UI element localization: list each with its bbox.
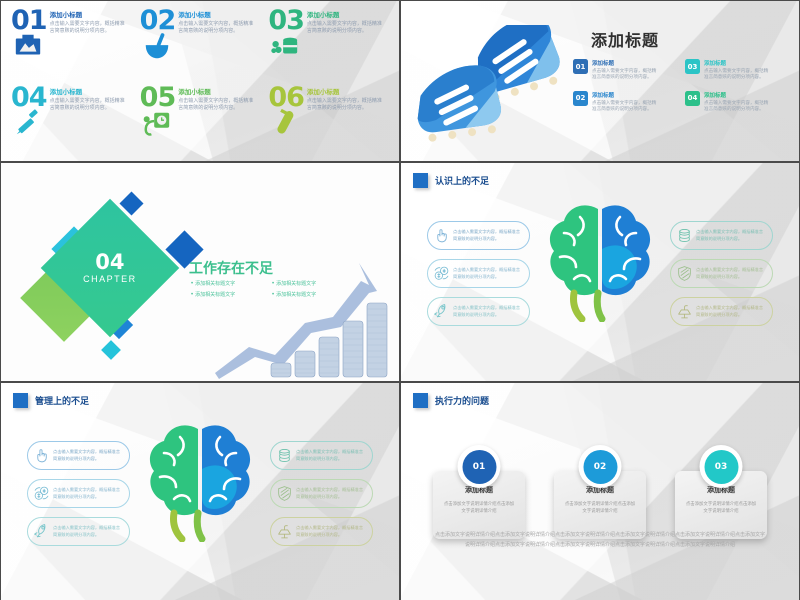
item-body: 点击输入需要文字内容，概括精准言简意赅的说明分项内容。 xyxy=(704,68,770,81)
six-item[interactable]: 05添加小标题点击输入需要文字内容，概括精准言简意赅的说明分项内容。 xyxy=(136,82,265,159)
coins-icon xyxy=(676,227,693,244)
card-body: 点击添加文字说明详情介绍点击添加文字说明详情介绍 xyxy=(563,500,637,514)
info-pill[interactable]: 点击输入需要文字内容，概括精准言简意赅的说明分项内容。 xyxy=(670,259,773,288)
rocket-icon xyxy=(33,523,50,540)
pill-text: 点击输入需要文字内容，概括精准言简意赅的说明分项内容。 xyxy=(296,449,367,461)
execution-card[interactable]: 03添加标题点击添加文字说明详情介绍点击添加文字说明详情介绍 xyxy=(675,445,767,539)
coins-icon xyxy=(276,447,293,464)
six-item[interactable]: 01添加小标题点击输入需要文字内容，概括精准言简意赅的说明分项内容。 xyxy=(7,5,136,82)
shield-icon xyxy=(676,265,693,282)
card-number-circle: 03 xyxy=(700,445,743,488)
xray-icon xyxy=(13,31,43,61)
slide-3-chapter[interactable]: 04 CHAPTER 工作存在不足 •添加相关标题文字•添加相关标题文字•添加相… xyxy=(1,163,399,381)
bullet-dot-icon: • xyxy=(191,292,193,298)
card-number: 03 xyxy=(704,450,738,484)
brain-icon xyxy=(540,197,660,322)
test-tube-icon xyxy=(270,108,300,138)
info-pill[interactable]: 点击输入需要文字内容，概括精准言简意赅的说明分项内容。 xyxy=(270,479,373,508)
item-badge: 03 xyxy=(685,59,700,74)
rocket-icon xyxy=(33,523,50,540)
item-body: 点击输入需要文字内容，概括精准言简意赅的说明分项内容。 xyxy=(50,21,128,36)
mortar-pestle-icon xyxy=(142,31,172,61)
brain-illustration xyxy=(540,197,660,322)
slide-2-item[interactable]: 02添加标题点击输入需要文字内容，概括精准言简意赅的说明分项内容。 xyxy=(573,91,679,113)
info-pill[interactable]: 点击输入需要文字内容，概括精准言简意赅的说明分项内容。 xyxy=(427,221,530,250)
section-header-label: 认识上的不足 xyxy=(435,174,489,187)
lamp-icon xyxy=(276,523,293,540)
item-body: 点击输入需要文字内容，概括精准言简意赅的说明分项内容。 xyxy=(50,98,128,113)
currency-exchange-icon xyxy=(33,485,50,502)
section-header: 认识上的不足 xyxy=(413,173,489,188)
item-title: 添加标题 xyxy=(704,59,770,67)
pill-text: 点击输入需要文字内容，概括精准言简意赅的说明分项内容。 xyxy=(296,525,367,537)
football-boots-icon xyxy=(407,25,592,145)
lamp-icon xyxy=(676,303,693,320)
item-title: 添加小标题 xyxy=(50,86,128,96)
card-body: 点击添加文字说明详情介绍点击添加文字说明详情介绍 xyxy=(684,500,758,514)
item-body: 点击输入需要文字内容，概括精准言简意赅的说明分项内容。 xyxy=(592,100,658,113)
section-header-label: 管理上的不足 xyxy=(35,394,89,407)
item-body: 点击输入需要文字内容，概括精准言简意赅的说明分项内容。 xyxy=(307,21,385,36)
info-pill[interactable]: 点击输入需要文字内容，概括精准言简意赅的说明分项内容。 xyxy=(270,517,373,546)
slide-2-item[interactable]: 04添加标题点击输入需要文字内容，概括精准言简意赅的说明分项内容。 xyxy=(685,91,791,113)
currency-exchange-icon xyxy=(433,265,450,282)
slide-2-title: 添加标题 xyxy=(591,27,659,51)
pill-text: 点击输入需要文字内容，概括精准言简意赅的说明分项内容。 xyxy=(453,267,524,279)
slide-6-footer-text: 点击添加文字说明详情介绍点击添加文字说明详情介绍点击添加文字说明详情介绍点击添加… xyxy=(435,531,765,550)
item-title: 添加小标题 xyxy=(178,9,256,19)
item-body: 点击输入需要文字内容，概括精准言简意赅的说明分项内容。 xyxy=(592,68,658,81)
item-body: 点击输入需要文字内容，概括精准言简意赅的说明分项内容。 xyxy=(178,21,256,36)
currency-exchange-icon xyxy=(433,265,450,282)
pill-jar-icon xyxy=(270,31,300,61)
brain-icon xyxy=(140,417,260,542)
item-title: 添加小标题 xyxy=(307,86,385,96)
slide-1-six-items[interactable]: 01添加小标题点击输入需要文字内容，概括精准言简意赅的说明分项内容。02添加小标… xyxy=(1,1,399,161)
pill-text: 点击输入需要文字内容，概括精准言简意赅的说明分项内容。 xyxy=(696,229,767,241)
coins-icon xyxy=(676,227,693,244)
info-pill[interactable]: 点击输入需要文字内容，概括精准言简意赅的说明分项内容。 xyxy=(270,441,373,470)
execution-card[interactable]: 02添加标题点击添加文字说明详情介绍点击添加文字说明详情介绍 xyxy=(554,445,646,539)
pill-text: 点击输入需要文字内容，概括精准言简意赅的说明分项内容。 xyxy=(53,487,124,499)
chapter-label: CHAPTER xyxy=(83,274,137,284)
lamp-icon xyxy=(676,303,693,320)
hand-click-icon xyxy=(433,227,450,244)
xray-icon xyxy=(13,31,43,61)
card-number: 01 xyxy=(462,450,496,484)
square-bullet-icon xyxy=(413,173,428,188)
info-pill[interactable]: 点击输入需要文字内容，概括精准言简意赅的说明分项内容。 xyxy=(27,441,130,470)
info-pill[interactable]: 点击输入需要文字内容，概括精准言简意赅的说明分项内容。 xyxy=(427,259,530,288)
blood-pressure-icon xyxy=(142,108,172,138)
six-item[interactable]: 06添加小标题点击输入需要文字内容，概括精准言简意赅的说明分项内容。 xyxy=(264,82,393,159)
six-item[interactable]: 03添加小标题点击输入需要文字内容，概括精准言简意赅的说明分项内容。 xyxy=(264,5,393,82)
pill-text: 点击输入需要文字内容，概括精准言简意赅的说明分项内容。 xyxy=(296,487,367,499)
slide-5-brain-management[interactable]: 管理上的不足 点击输入需要文字内容，概括精准言简意赅 xyxy=(1,383,399,600)
slide-2-item[interactable]: 01添加标题点击输入需要文字内容，概括精准言简意赅的说明分项内容。 xyxy=(573,59,679,81)
bullet-dot-icon: • xyxy=(191,281,193,287)
item-badge: 02 xyxy=(573,91,588,106)
shield-icon xyxy=(676,265,693,282)
currency-exchange-icon xyxy=(33,485,50,502)
info-pill[interactable]: 点击输入需要文字内容，概括精准言简意赅的说明分项内容。 xyxy=(27,517,130,546)
hand-click-icon xyxy=(33,447,50,464)
shield-icon xyxy=(276,485,293,502)
six-item-grid: 01添加小标题点击输入需要文字内容，概括精准言简意赅的说明分项内容。02添加小标… xyxy=(1,1,399,161)
item-title: 添加小标题 xyxy=(50,9,128,19)
card-body: 点击添加文字说明详情介绍点击添加文字说明详情介绍 xyxy=(442,500,516,514)
mortar-pestle-icon xyxy=(142,31,172,61)
pill-jar-icon xyxy=(270,31,300,61)
growth-arrow-coins-icon xyxy=(209,251,399,381)
pill-text: 点击输入需要文字内容，概括精准言简意赅的说明分项内容。 xyxy=(53,449,124,461)
execution-card[interactable]: 01添加标题点击添加文字说明详情介绍点击添加文字说明详情介绍 xyxy=(433,445,525,539)
card-number-circle: 01 xyxy=(458,445,501,488)
blood-pressure-icon xyxy=(142,108,172,138)
pill-text: 点击输入需要文字内容，概括精准言简意赅的说明分项内容。 xyxy=(696,305,767,317)
slide-2-item-grid: 01添加标题点击输入需要文字内容，概括精准言简意赅的说明分项内容。03添加标题点… xyxy=(573,59,791,113)
diamond-cyan-bottom xyxy=(101,340,121,360)
lamp-icon xyxy=(276,523,293,540)
six-item[interactable]: 04添加小标题点击输入需要文字内容，概括精准言简意赅的说明分项内容。 xyxy=(7,82,136,159)
pill-text: 点击输入需要文字内容，概括精准言简意赅的说明分项内容。 xyxy=(453,305,524,317)
item-title: 添加标题 xyxy=(704,91,770,99)
square-bullet-icon xyxy=(413,393,428,408)
rocket-icon xyxy=(433,303,450,320)
hand-click-icon xyxy=(433,227,450,244)
item-title: 添加标题 xyxy=(592,91,658,99)
item-body: 点击输入需要文字内容，概括精准言简意赅的说明分项内容。 xyxy=(307,98,385,113)
chapter-number: 04 xyxy=(83,252,137,273)
syringe-icon xyxy=(13,108,43,138)
info-pill[interactable]: 点击输入需要文字内容，概括精准言简意赅的说明分项内容。 xyxy=(670,297,773,326)
info-pill[interactable]: 点击输入需要文字内容，概括精准言简意赅的说明分项内容。 xyxy=(27,479,130,508)
slide-2-boots[interactable]: 添加标题 01添加标题点击输入需要文字内容，概括精准言简意赅的说明分项内容。03… xyxy=(401,1,799,161)
item-badge: 04 xyxy=(685,91,700,106)
slide-2-item[interactable]: 03添加标题点击输入需要文字内容，概括精准言简意赅的说明分项内容。 xyxy=(685,59,791,81)
syringe-icon xyxy=(13,108,43,138)
card-number-circle: 02 xyxy=(579,445,622,488)
info-pill[interactable]: 点击输入需要文字内容，概括精准言简意赅的说明分项内容。 xyxy=(670,221,773,250)
slide-6-execution[interactable]: 执行力的问题 01添加标题点击添加文字说明详情介绍点击添加文字说明详情介绍02添… xyxy=(401,383,799,600)
shield-icon xyxy=(276,485,293,502)
brain-illustration xyxy=(140,417,260,542)
six-item[interactable]: 02添加小标题点击输入需要文字内容，概括精准言简意赅的说明分项内容。 xyxy=(136,5,265,82)
coins-icon xyxy=(276,447,293,464)
pill-text: 点击输入需要文字内容，概括精准言简意赅的说明分项内容。 xyxy=(453,229,524,241)
section-header-label: 执行力的问题 xyxy=(435,394,489,407)
item-body: 点击输入需要文字内容，概括精准言简意赅的说明分项内容。 xyxy=(178,98,256,113)
test-tube-icon xyxy=(270,108,300,138)
slide-4-brain-cognition[interactable]: 认识上的不足 点击输入需要文字内容，概括精准言简意赅 xyxy=(401,163,799,381)
rocket-icon xyxy=(433,303,450,320)
item-title: 添加小标题 xyxy=(307,9,385,19)
slide-deck: 01添加小标题点击输入需要文字内容，概括精准言简意赅的说明分项内容。02添加小标… xyxy=(0,0,800,600)
item-title: 添加小标题 xyxy=(178,86,256,96)
hand-click-icon xyxy=(33,447,50,464)
info-pill[interactable]: 点击输入需要文字内容，概括精准言简意赅的说明分项内容。 xyxy=(427,297,530,326)
card-number: 02 xyxy=(583,450,617,484)
item-badge: 01 xyxy=(573,59,588,74)
item-title: 添加标题 xyxy=(592,59,658,67)
item-body: 点击输入需要文字内容，概括精准言简意赅的说明分项内容。 xyxy=(704,100,770,113)
section-header: 管理上的不足 xyxy=(13,393,89,408)
square-bullet-icon xyxy=(13,393,28,408)
pill-text: 点击输入需要文字内容，概括精准言简意赅的说明分项内容。 xyxy=(53,525,124,537)
pill-text: 点击输入需要文字内容，概括精准言简意赅的说明分项内容。 xyxy=(696,267,767,279)
card-row: 01添加标题点击添加文字说明详情介绍点击添加文字说明详情介绍02添加标题点击添加… xyxy=(401,445,799,539)
section-header: 执行力的问题 xyxy=(413,393,489,408)
